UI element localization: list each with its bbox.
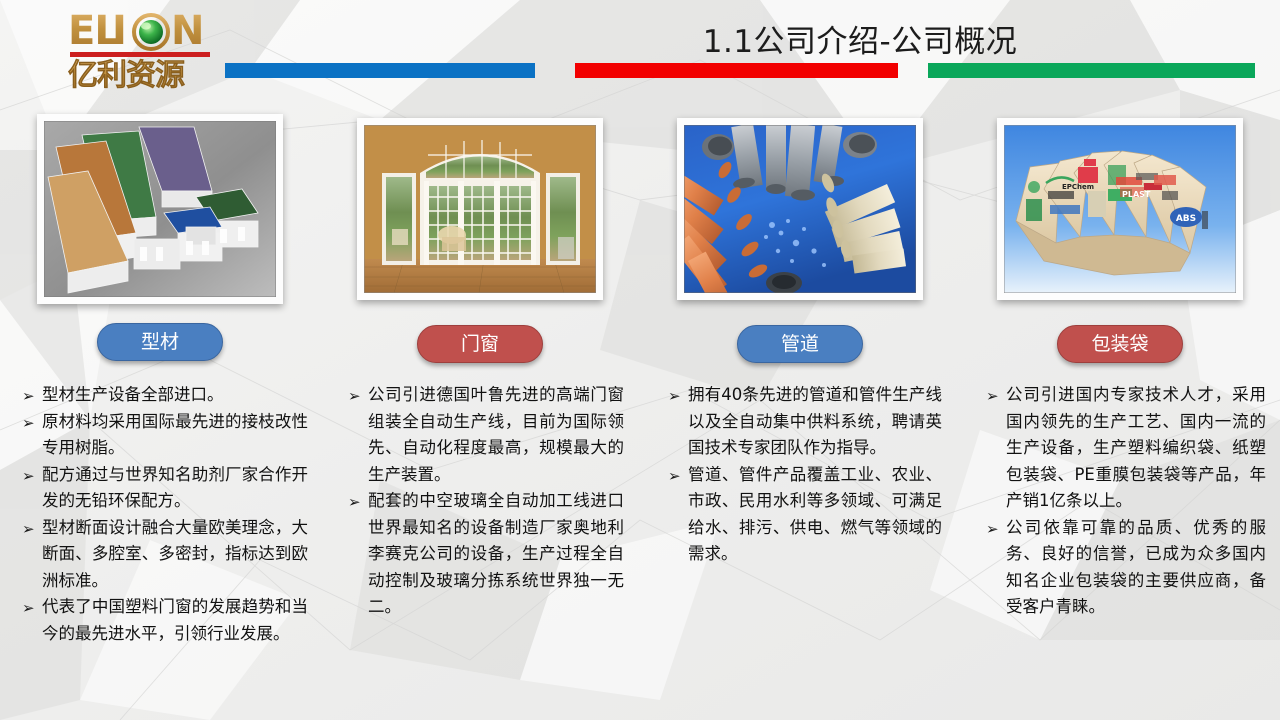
bullet-arrow-icon: ➢ xyxy=(22,463,35,490)
list-item: ➢公司依靠可靠的品质、优秀的服务、良好的信誉，已成为众多国内知名企业包装袋的主要… xyxy=(986,515,1266,621)
window-door-interior-photo xyxy=(364,125,596,293)
svg-text:PLAST: PLAST xyxy=(1122,190,1151,199)
product-column-profiles: 型材 ➢型材生产设备全部进口。 ➢原材料均采用国际最先进的接枝改性专用树脂。 ➢… xyxy=(0,100,320,720)
svg-text:ABS: ABS xyxy=(1176,214,1196,224)
bullet-arrow-icon: ➢ xyxy=(22,410,35,437)
list-item: ➢型材生产设备全部进口。 xyxy=(22,382,308,409)
category-pill-pipes[interactable]: 管道 xyxy=(737,325,863,363)
accent-bar-red xyxy=(575,63,898,78)
svg-text:亿利资源: 亿利资源 xyxy=(68,58,185,91)
bullet-text: 配方通过与世界知名助剂厂家合作开发的无铅环保配方。 xyxy=(42,465,308,511)
category-pill-label: 门窗 xyxy=(461,333,499,355)
product-column-bags: ABS EPChem PLAST 包装袋 ➢公司引进国内专家技术人才，采用国内领… xyxy=(960,100,1280,720)
bullet-list-profiles: ➢型材生产设备全部进口。 ➢原材料均采用国际最先进的接枝改性专用树脂。 ➢配方通… xyxy=(0,382,320,647)
photo-frame-pipes xyxy=(677,118,923,300)
svg-text:N: N xyxy=(171,8,204,52)
svg-text:I: I xyxy=(112,8,126,52)
bullet-arrow-icon: ➢ xyxy=(668,463,681,490)
bullet-text: 管道、管件产品覆盖工业、农业、市政、民用水利等多领域、可满足给水、排污、供电、燃… xyxy=(688,465,942,564)
list-item: ➢公司引进国内专家技术人才，采用国内领先的生产工艺、国内一流的生产设备，生产塑料… xyxy=(986,382,1266,515)
product-columns: 型材 ➢型材生产设备全部进口。 ➢原材料均采用国际最先进的接枝改性专用树脂。 ➢… xyxy=(0,100,1280,720)
svg-text:EPChem: EPChem xyxy=(1062,183,1094,191)
product-column-pipes: 管道 ➢拥有40条先进的管道和管件生产线以及全自动集中供料系统，聘请英国技术专家… xyxy=(640,100,960,720)
category-pill-bags[interactable]: 包装袋 xyxy=(1057,325,1183,363)
list-item: ➢代表了中国塑料门窗的发展趋势和当今的最先进水平，引领行业发展。 xyxy=(22,594,308,647)
list-item: ➢配方通过与世界知名助剂厂家合作开发的无铅环保配方。 xyxy=(22,462,308,515)
category-pill-label: 管道 xyxy=(781,333,819,355)
photo-frame-bags: ABS EPChem PLAST xyxy=(997,118,1243,300)
bullet-arrow-icon: ➢ xyxy=(348,489,361,516)
bullet-arrow-icon: ➢ xyxy=(986,383,999,410)
list-item: ➢公司引进德国叶鲁先进的高端门窗组装全自动生产线，目前为国际领先、自动化程度最高… xyxy=(348,382,624,488)
bullet-text: 公司引进德国叶鲁先进的高端门窗组装全自动生产线，目前为国际领先、自动化程度最高，… xyxy=(368,385,624,484)
bullet-text: 拥有40条先进的管道和管件生产线以及全自动集中供料系统，聘请英国技术专家团队作为… xyxy=(688,385,942,457)
bullet-arrow-icon: ➢ xyxy=(22,383,35,410)
elion-chinese-wordmark-icon: 亿利资源 xyxy=(68,57,218,91)
pvc-profile-extrusions-photo xyxy=(44,121,276,297)
category-pill-label: 型材 xyxy=(141,331,179,353)
pvc-pipes-photo xyxy=(684,125,916,293)
elion-wordmark-icon: EL I N xyxy=(68,8,218,52)
bullet-text: 原材料均采用国际最先进的接枝改性专用树脂。 xyxy=(42,412,308,458)
bullet-text: 型材断面设计融合大量欧美理念，大断面、多腔室、多密封，指标达到欧洲标准。 xyxy=(42,518,308,590)
bullet-text: 型材生产设备全部进口。 xyxy=(42,385,224,404)
category-pill-windows[interactable]: 门窗 xyxy=(417,325,543,363)
bullet-arrow-icon: ➢ xyxy=(22,595,35,622)
photo-frame-profiles xyxy=(37,114,283,304)
list-item: ➢拥有40条先进的管道和管件生产线以及全自动集中供料系统，聘请英国技术专家团队作… xyxy=(668,382,942,462)
list-item: ➢管道、管件产品覆盖工业、农业、市政、民用水利等多领域、可满足给水、排污、供电、… xyxy=(668,462,942,568)
bullet-list-bags: ➢公司引进国内专家技术人才，采用国内领先的生产工艺、国内一流的生产设备，生产塑料… xyxy=(960,382,1280,621)
bullet-text: 代表了中国塑料门窗的发展趋势和当今的最先进水平，引领行业发展。 xyxy=(42,597,308,643)
list-item: ➢配套的中空玻璃全自动加工线进口世界最知名的设备制造厂家奥地利李赛克公司的设备，… xyxy=(348,488,624,621)
slide-header: EL I N 亿利资源 1.1公司介绍-公司概况 xyxy=(0,0,1280,95)
accent-bar-green xyxy=(928,63,1255,78)
category-pill-profiles[interactable]: 型材 xyxy=(97,323,223,361)
page-title: 1.1公司介绍-公司概况 xyxy=(600,16,1120,61)
bullet-arrow-icon: ➢ xyxy=(22,516,35,543)
bullet-arrow-icon: ➢ xyxy=(348,383,361,410)
packaging-bags-photo: ABS EPChem PLAST xyxy=(1004,125,1236,293)
list-item: ➢型材断面设计融合大量欧美理念，大断面、多腔室、多密封，指标达到欧洲标准。 xyxy=(22,515,308,595)
bullet-text: 公司依靠可靠的品质、优秀的服务、良好的信誉，已成为众多国内知名企业包装袋的主要供… xyxy=(1006,518,1266,617)
company-logo: EL I N 亿利资源 xyxy=(68,8,218,86)
bullet-text: 公司引进国内专家技术人才，采用国内领先的生产工艺、国内一流的生产设备，生产塑料编… xyxy=(1006,385,1266,510)
list-item: ➢原材料均采用国际最先进的接枝改性专用树脂。 xyxy=(22,409,308,462)
accent-bar-blue xyxy=(225,63,535,78)
bullet-arrow-icon: ➢ xyxy=(668,383,681,410)
photo-frame-windows xyxy=(357,118,603,300)
bullet-text: 配套的中空玻璃全自动加工线进口世界最知名的设备制造厂家奥地利李赛克公司的设备，生… xyxy=(368,491,624,616)
bullet-list-windows: ➢公司引进德国叶鲁先进的高端门窗组装全自动生产线，目前为国际领先、自动化程度最高… xyxy=(320,382,640,621)
bullet-list-pipes: ➢拥有40条先进的管道和管件生产线以及全自动集中供料系统，聘请英国技术专家团队作… xyxy=(640,382,960,568)
product-column-windows: 门窗 ➢公司引进德国叶鲁先进的高端门窗组装全自动生产线，目前为国际领先、自动化程… xyxy=(320,100,640,720)
category-pill-label: 包装袋 xyxy=(1091,333,1148,355)
bullet-arrow-icon: ➢ xyxy=(986,516,999,543)
